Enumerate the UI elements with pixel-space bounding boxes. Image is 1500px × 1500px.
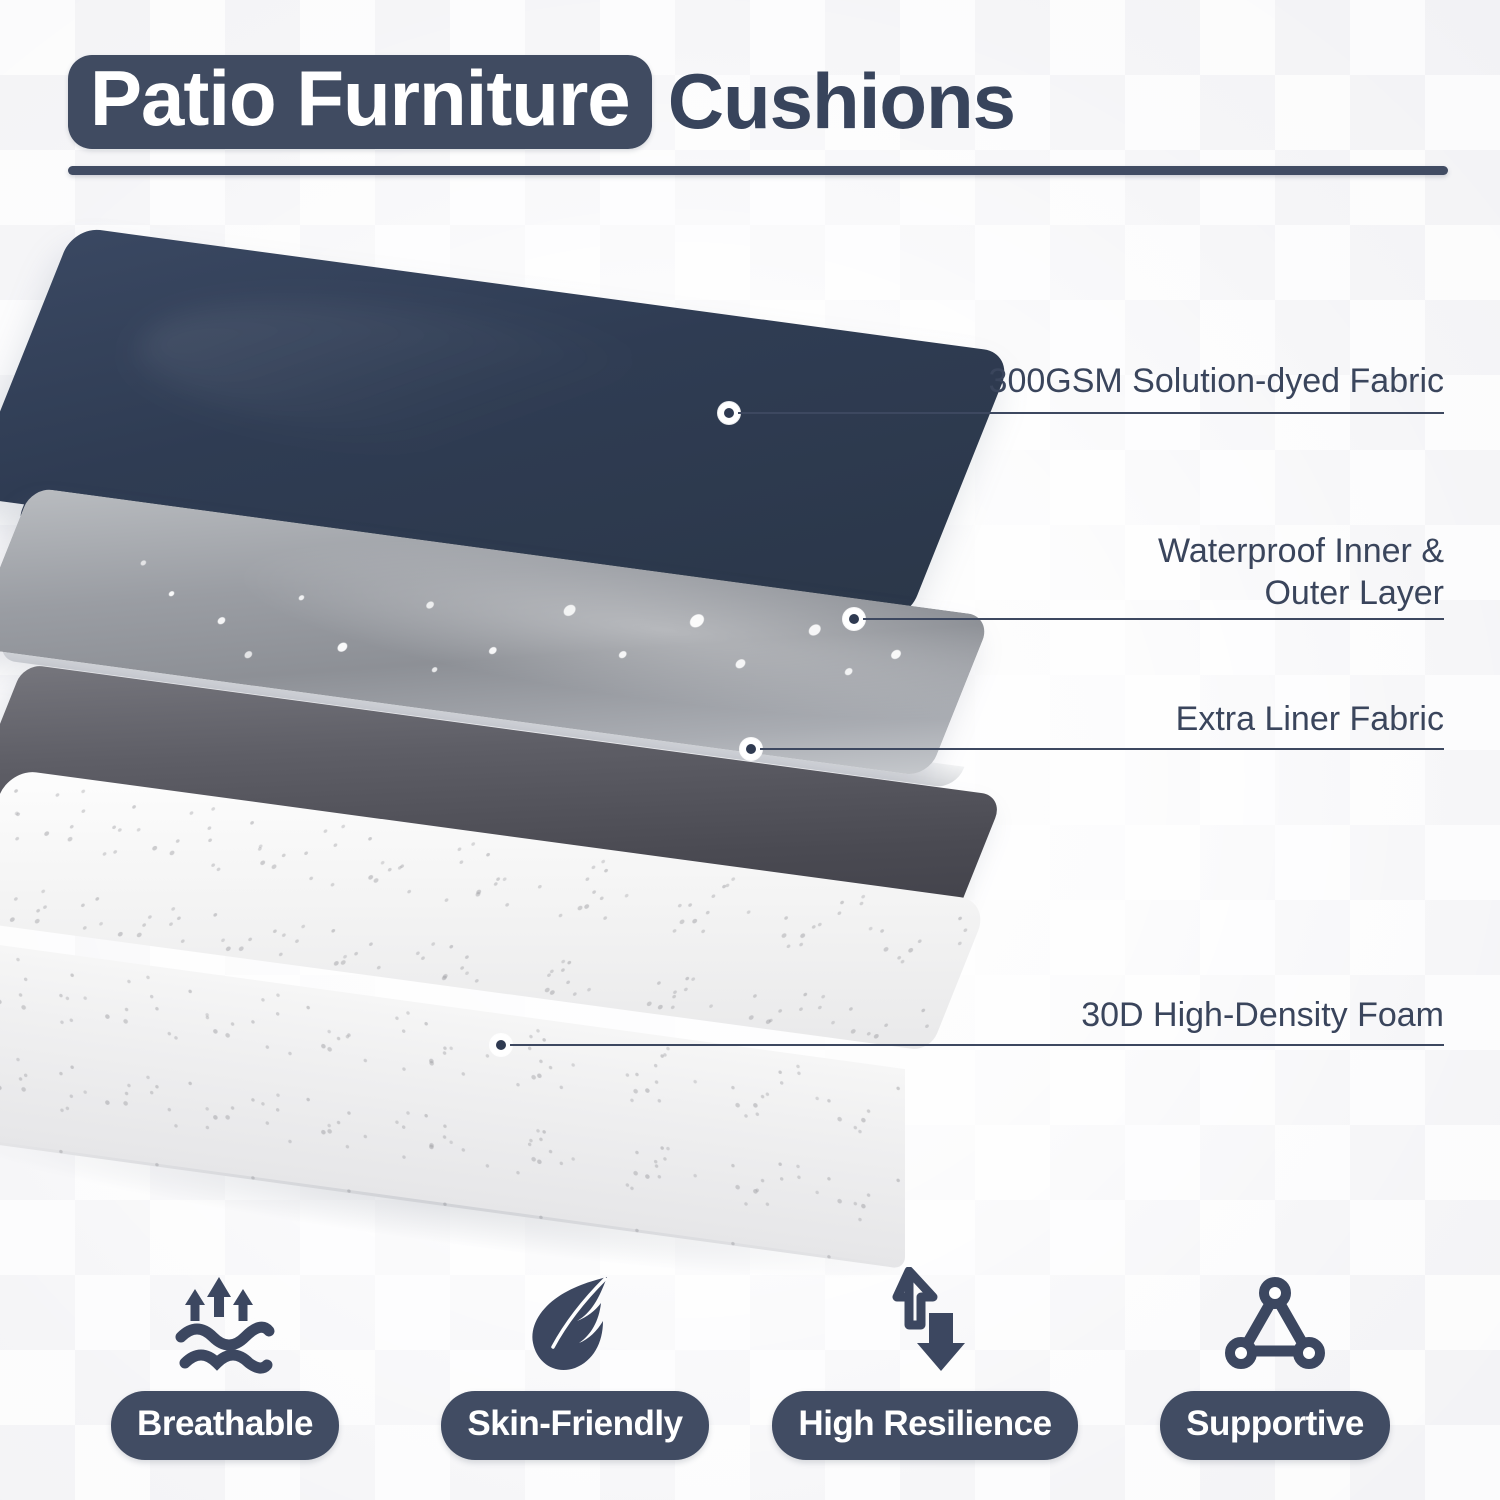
feature-breathable: Breathable bbox=[60, 1267, 390, 1460]
callout-dot-foam bbox=[490, 1034, 512, 1056]
page-title: Patio Furniture Cushions bbox=[68, 48, 1448, 156]
feature-high-resilience: High Resilience bbox=[760, 1267, 1090, 1460]
title-underline-rule bbox=[68, 166, 1448, 175]
callout-label-liner: Extra Liner Fabric bbox=[744, 698, 1444, 741]
callout-label-fabric: 300GSM Solution-dyed Fabric bbox=[744, 360, 1444, 403]
exploded-cushion-diagram bbox=[0, 290, 1020, 1220]
callout-leader-line-foam bbox=[510, 1044, 1444, 1046]
callout-label-foam: 30D High-Density Foam bbox=[744, 994, 1444, 1037]
feature-skin-friendly: Skin-Friendly bbox=[410, 1267, 740, 1460]
title-word-cushions: Cushions bbox=[668, 62, 1015, 142]
feature-badge-row: Breathable Skin-Friendly bbox=[60, 1250, 1440, 1460]
callout-label-waterproof-line1: Waterproof Inner & bbox=[744, 530, 1444, 573]
arrows-over-waves-icon bbox=[171, 1267, 279, 1375]
up-down-arrows-icon bbox=[875, 1267, 975, 1375]
page-header: Patio Furniture Cushions bbox=[68, 48, 1448, 178]
callout-dot-fabric bbox=[718, 402, 740, 424]
callout-leader-line-fabric bbox=[738, 412, 1444, 414]
callout-label-waterproof-line2: Outer Layer bbox=[744, 572, 1444, 615]
feature-supportive: Supportive bbox=[1110, 1267, 1440, 1460]
callout-leader-line-waterproof bbox=[863, 618, 1444, 620]
title-badge-patio-furniture: Patio Furniture bbox=[68, 55, 652, 149]
callout-leader-line-liner bbox=[760, 748, 1444, 750]
feather-icon bbox=[521, 1267, 629, 1375]
feature-label-high-resilience: High Resilience bbox=[772, 1391, 1077, 1460]
feature-label-supportive: Supportive bbox=[1160, 1391, 1390, 1460]
feature-label-breathable: Breathable bbox=[111, 1391, 339, 1460]
product-infographic: Patio Furniture Cushions bbox=[0, 0, 1500, 1500]
triangle-nodes-icon bbox=[1223, 1267, 1327, 1375]
callout-dot-liner bbox=[740, 738, 762, 760]
feature-label-skin-friendly: Skin-Friendly bbox=[441, 1391, 708, 1460]
